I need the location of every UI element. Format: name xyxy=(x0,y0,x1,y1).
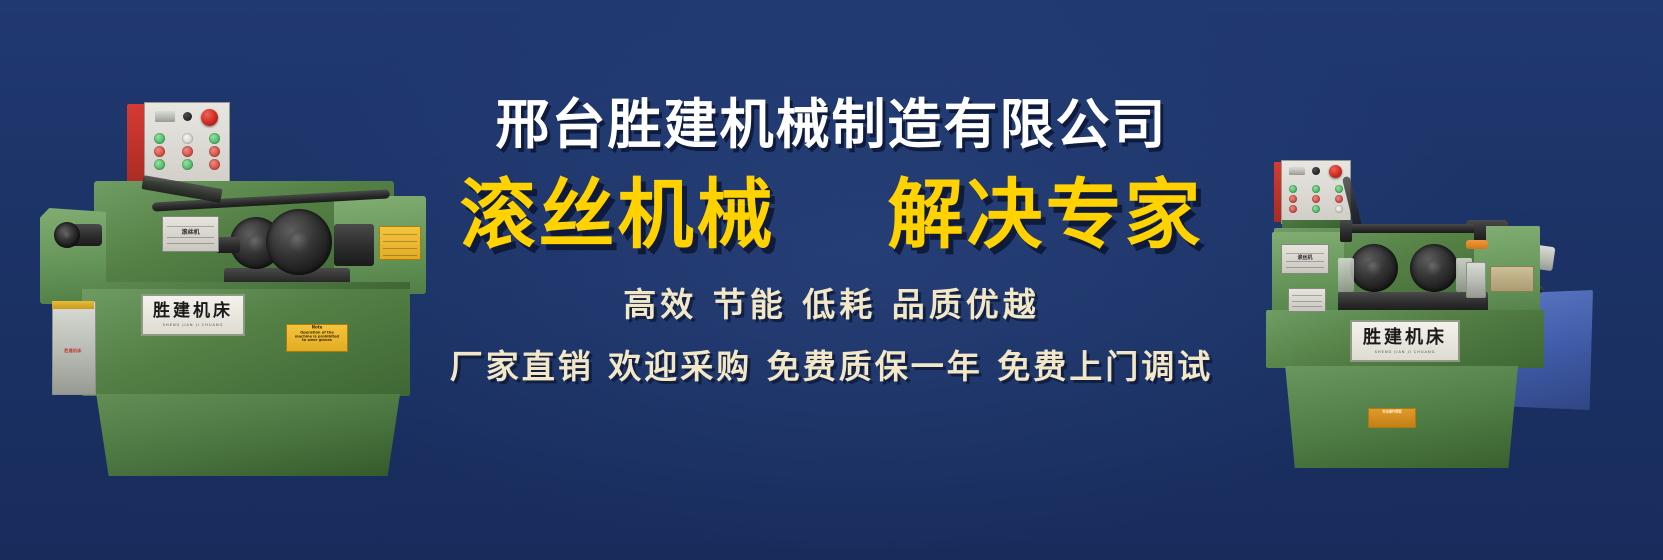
headline-left: 滚丝机械 xyxy=(460,175,776,254)
subtitle-line-1: 高效 节能 低耗 品质优越 xyxy=(0,278,1663,326)
left-base-pedestal xyxy=(90,394,400,476)
banner-copy: 邢台胜建机械制造有限公司 滚丝机械 解决专家 高效 节能 低耗 品质优越 厂家直… xyxy=(0,96,1663,388)
headline-right: 解决专家 xyxy=(888,175,1204,254)
subtitle-line-2: 厂家直销 欢迎采购 免费质保一年 免费上门调试 xyxy=(0,340,1663,388)
company-name: 邢台胜建机械制造有限公司 xyxy=(0,96,1663,153)
promotional-banner: 胜建机床 滚丝机 胜建机床 SHENG JIAN JI CHUANG Note … xyxy=(0,0,1663,560)
headline-row: 滚丝机械 解决专家 xyxy=(0,175,1663,254)
right-base-label-text: 安全操作规程 xyxy=(1375,410,1409,413)
right-base-label: 安全操作规程 xyxy=(1368,408,1416,428)
